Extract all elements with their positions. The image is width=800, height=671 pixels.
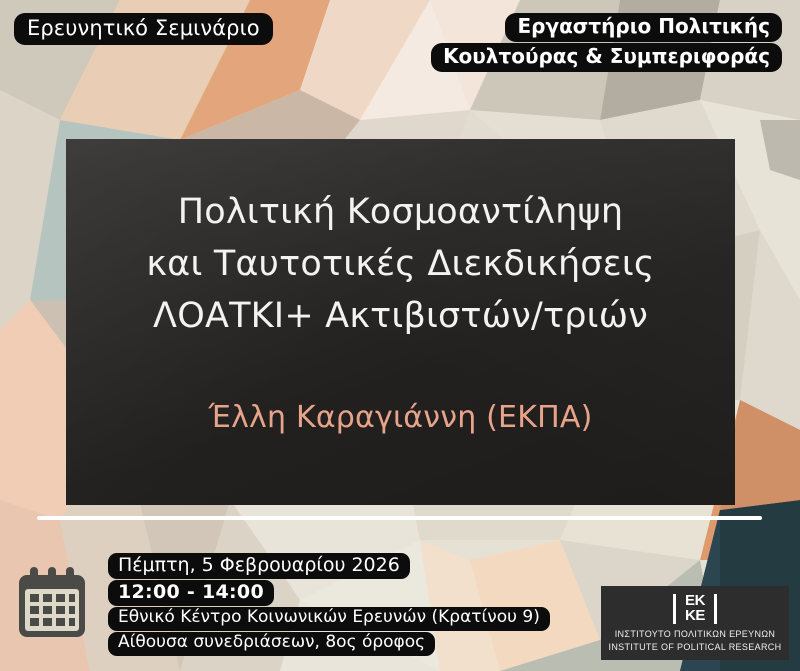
ekke-logo: EK KE ΙΝΣΤΙΤΟΥΤΟ ΠΟΛΙΤΙΚΩΝ ΕΡΕΥΝΩΝ INSTI… [601,586,789,660]
poster-canvas: Ερευνητικό Σεμινάριο Εργαστήριο Πολιτική… [0,0,800,671]
event-date: Πέμπτη, 5 Φεβρουαρίου 2026 [108,553,410,579]
ekke-mark-letters: EK KE [678,594,712,624]
ekke-subtitle-english: INSTITUTE OF POLITICAL RESEARCH [608,641,781,655]
event-time: 12:00 - 14:00 [108,580,274,606]
event-room: Αίθουσα συνεδριάσεων, 8ος όροφος [108,632,435,656]
badge-research-seminar-label: Ερευνητικό Σεμινάριο [14,13,273,45]
title-line-3: ΛΟΑΤΚΙ+ Ακτιβιστών/τριών [66,290,735,342]
event-venue: Εθνικό Κέντρο Κοινωνικών Ερευνών (Κρατίν… [108,607,550,631]
ekke-mark-bar-right [714,594,717,624]
poster-title: Πολιτική Κοσμοαντίληψη και Ταυτοτικές Δι… [66,186,735,342]
ekke-subtitle-greek: ΙΝΣΤΙΤΟΥΤΟ ΠΟΛΙΤΙΚΩΝ ΕΡΕΥΝΩΝ [615,628,776,642]
badge-research-seminar: Ερευνητικό Σεμινάριο [14,13,273,45]
speaker-name: Έλλη Καραγιάννη (ΕΚΠΑ) [66,400,735,435]
badge-lab: Εργαστήριο Πολιτικής Κουλτούρας & Συμπερ… [431,13,782,72]
ekke-logo-mark: EK KE [673,594,717,624]
ekke-mark-bar-left [673,594,676,624]
calendar-icon [12,563,92,643]
badge-lab-line-2: Κουλτούρας & Συμπεριφοράς [431,43,782,72]
ekke-mark-bottom: KE [685,609,705,624]
title-line-1: Πολιτική Κοσμοαντίληψη [66,186,735,238]
badge-lab-line-1: Εργαστήριο Πολιτικής [505,13,782,42]
event-details: Πέμπτη, 5 Φεβρουαρίου 2026 12:00 - 14:00… [108,553,550,656]
title-line-2: και Ταυτοτικές Διεκδικήσεις [66,238,735,290]
divider-rule [37,516,762,520]
